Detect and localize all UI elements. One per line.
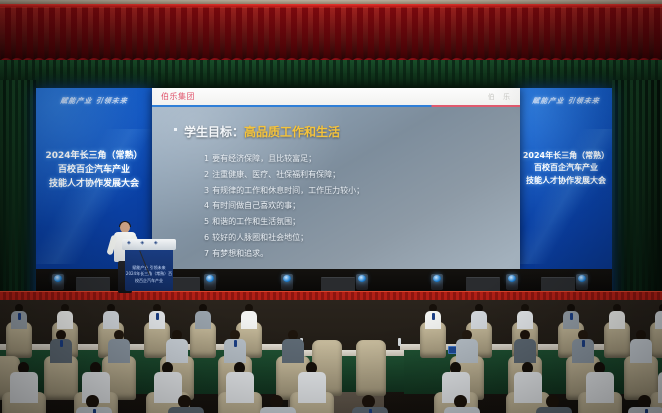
side-curtain-fold: [12, 80, 15, 318]
side-curtain-fold: [612, 80, 615, 318]
attendee-torso: [108, 339, 130, 363]
banner-title-line-2: 百校百企汽车产业: [36, 164, 152, 178]
stage-speaker-cabinet: [466, 277, 500, 292]
stage-speaker-cabinet: [76, 277, 110, 292]
stage-speaker-cabinet: [541, 277, 575, 292]
attendee-torso: [655, 311, 662, 329]
attendee-torso: [444, 407, 480, 413]
slide-list-item-number: 4: [204, 201, 209, 210]
lectern-podium: ◈ ◈ ◈ 赋能产业 引领未来 2024年长三角（常熟）百校百企汽车产业: [125, 243, 173, 291]
slide-list-item-text: 有时间做自己喜欢的事；: [212, 201, 300, 210]
slide-title: 学生目标：高品质工作和生活: [184, 123, 340, 140]
banner-script-right: 赋能产业 引领未来: [520, 96, 612, 106]
side-curtain-fold: [24, 80, 27, 318]
attendee-torso: [471, 311, 488, 329]
side-curtain-fold: [654, 80, 657, 318]
slide-body: 学生目标：高品质工作和生活 1要有经济保障，且比较富足；2注重健康、医疗、社保福…: [152, 107, 520, 269]
lectern-logo-marks: ◈ ◈ ◈: [127, 240, 162, 246]
attendee-torso: [103, 311, 120, 329]
slide-bullet-list: 1要有经济保障，且比较富足；2注重健康、医疗、社保福利有保障；3有规律的工作和休…: [204, 151, 364, 262]
stage-moving-light: [506, 274, 518, 290]
banner-title-line-1: 2024年长三角（常熟）: [520, 150, 612, 162]
attendee-torso: [514, 339, 536, 363]
slide-list-item-number: 3: [204, 186, 209, 195]
slide-list-item: 1要有经济保障，且比较富足；: [204, 151, 364, 167]
slide-list-item: 7有梦想和追求。: [204, 246, 364, 262]
slide-list-item-text: 要有经济保障，且比较富足；: [212, 154, 316, 163]
attendee-lanyard: [60, 340, 63, 347]
slide-list-item: 4有时间做自己喜欢的事；: [204, 198, 364, 214]
stage-moving-light: [431, 274, 443, 290]
stage-moving-light: [356, 274, 368, 290]
banner-title-line-3: 技能人才协作发展大会: [520, 175, 612, 187]
attendee-torso: [168, 407, 204, 413]
attendee-torso: [226, 372, 254, 402]
slide-title-prefix: 学生目标：: [184, 125, 244, 139]
side-curtain-fold: [18, 80, 21, 318]
attendee-torso: [630, 339, 652, 363]
banner-title-line-2: 百校百企汽车产业: [520, 162, 612, 174]
audience-seating-area: [0, 300, 662, 413]
stage-curtain-left: [0, 80, 36, 318]
projection-screen: 伯乐集团 伯 乐 学生目标：高品质工作和生活 1要有经济保障，且比较富足；2注重…: [152, 88, 520, 269]
attendee-lanyard: [234, 340, 237, 347]
attendee-torso: [0, 407, 20, 413]
slide-list-item-number: 1: [204, 154, 209, 163]
side-curtain-fold: [0, 80, 3, 318]
slide-list-item-text: 有梦想和追求。: [212, 249, 268, 258]
slide-list-item-text: 注重健康、医疗、社保福利有保障；: [212, 170, 340, 179]
slide-list-item-text: 较好的人脉圈和社会地位；: [212, 233, 308, 242]
water-bottle: [398, 338, 401, 346]
attendee-torso: [166, 339, 188, 363]
red-valance-curtain: [0, 4, 662, 66]
side-curtain-fold: [630, 80, 633, 318]
attendee-torso: [536, 407, 572, 413]
banner-title-left: 2024年长三角（常熟） 百校百企汽车产业 技能人才协作发展大会: [36, 150, 152, 192]
banner-script-left: 赋能产业 引领未来: [36, 96, 152, 106]
side-curtain-fold: [618, 80, 621, 318]
banner-title-right: 2024年长三角（常熟） 百校百企汽车产业 技能人才协作发展大会: [520, 150, 612, 187]
slide-list-item-number: 5: [204, 217, 209, 226]
side-curtain-fold: [636, 80, 639, 318]
attendee-torso: [517, 311, 534, 329]
attendee-torso: [282, 339, 304, 363]
side-curtain-fold: [648, 80, 651, 318]
attendee-torso: [456, 339, 478, 363]
side-curtain-fold: [30, 80, 33, 318]
attendee-torso: [586, 372, 614, 402]
attendee-torso: [298, 372, 326, 402]
slide-title-highlight: 高品质工作和生活: [244, 125, 340, 139]
stage-moving-light: [281, 274, 293, 290]
slide-list-item: 6较好的人脉圈和社会地位；: [204, 230, 364, 246]
slide-brand-label: 伯乐集团: [161, 91, 195, 102]
attendee-torso: [241, 311, 258, 329]
stage-speaker-cabinet: [321, 277, 355, 292]
stage-moving-light: [576, 274, 588, 290]
stage-curtain-right: [612, 80, 662, 318]
lectern-top-surface: ◈ ◈ ◈: [122, 239, 176, 250]
slide-list-item: 3有规律的工作和休息时间，工作压力较小；: [204, 183, 364, 199]
attendee-torso: [0, 339, 14, 363]
banner-title-line-3: 技能人才协作发展大会: [36, 178, 152, 192]
attendee-lanyard: [645, 409, 648, 413]
stage-moving-light: [52, 274, 64, 290]
presentation-slide: 伯乐集团 伯 乐 学生目标：高品质工作和生活 1要有经济保障，且比较富足；2注重…: [152, 88, 520, 269]
attendee-torso: [10, 372, 38, 402]
audience-chair: [44, 356, 78, 400]
banner-title-line-1: 2024年长三角（常熟）: [36, 150, 152, 164]
attendee-torso: [609, 311, 626, 329]
attendee-lanyard: [582, 340, 585, 347]
slide-list-item: 2注重健康、医疗、社保福利有保障；: [204, 167, 364, 183]
slide-list-item-text: 有规律的工作和休息时间，工作压力较小；: [212, 186, 364, 195]
attendee-torso: [195, 311, 212, 329]
slide-title-bullet-icon: [174, 128, 177, 131]
attendee-lanyard: [369, 409, 372, 413]
slide-list-item: 5和谐的工作和生活氛围；: [204, 214, 364, 230]
slide-watermark-logo: 伯 乐: [488, 92, 513, 102]
slide-list-item-number: 2: [204, 170, 209, 179]
banner-diagonal-right: [520, 129, 612, 264]
attendee-torso: [514, 372, 542, 402]
attendee-torso: [658, 372, 662, 402]
head-table-chair: [356, 340, 386, 396]
side-curtain-fold: [624, 80, 627, 318]
attendee-torso: [260, 407, 296, 413]
conference-photo: 赋能产业 引领未来 2024年长三角（常熟） 百校百企汽车产业 技能人才协作发展…: [0, 0, 662, 413]
side-curtain-fold: [6, 80, 9, 318]
stage-moving-light: [204, 274, 216, 290]
side-curtain-fold: [642, 80, 645, 318]
attendee-torso: [57, 311, 74, 329]
attendee-lanyard: [93, 409, 96, 413]
slide-list-item-text: 和谐的工作和生活氛围；: [212, 217, 300, 226]
slide-header-bar: 伯乐集团 伯 乐: [152, 88, 520, 105]
slide-list-item-number: 6: [204, 233, 209, 242]
slide-list-item-number: 7: [204, 249, 209, 258]
